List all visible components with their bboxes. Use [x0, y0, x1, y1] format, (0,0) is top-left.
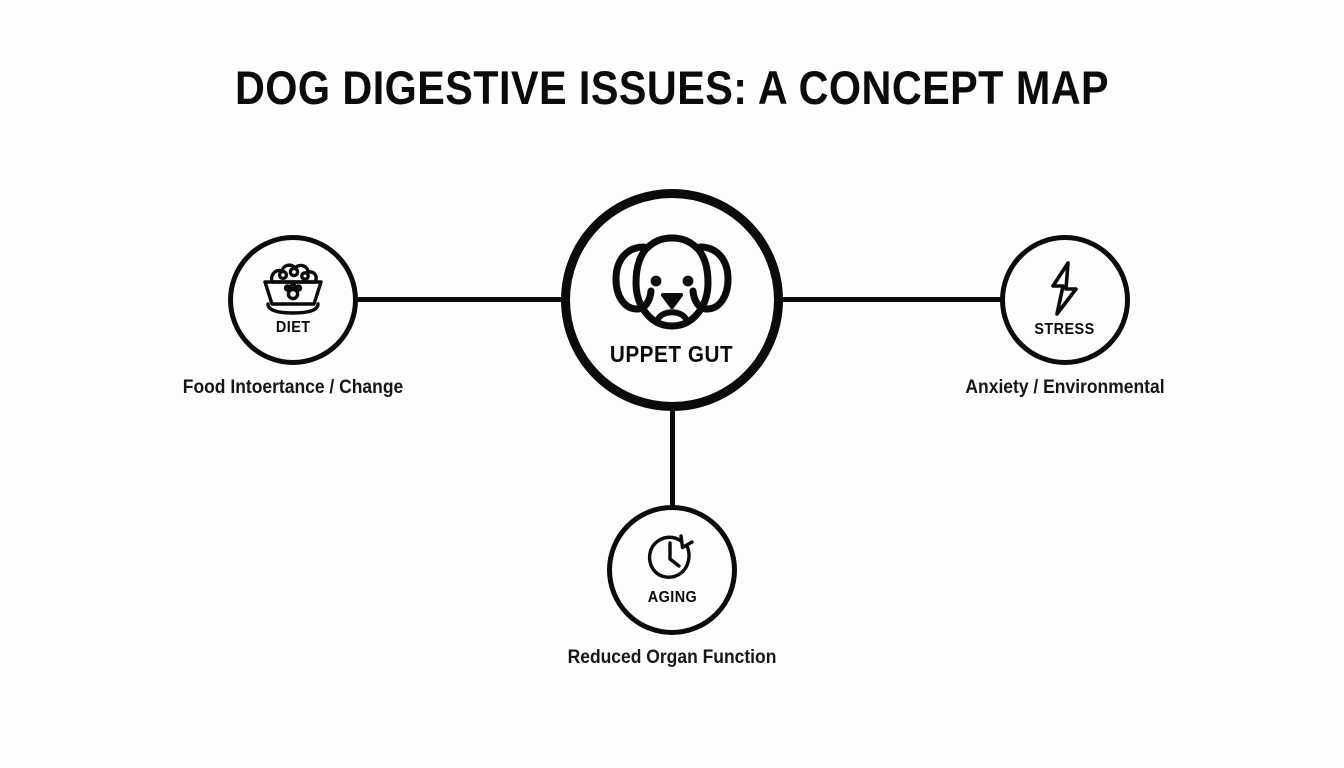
- sad-dog-face-icon: [606, 231, 738, 335]
- node-diet[interactable]: DIET: [228, 235, 358, 365]
- caption-aging: Reduced Organ Function: [525, 647, 819, 669]
- node-label-upset-gut: UPPET GUT: [610, 341, 733, 368]
- lightning-bolt-icon: [1041, 260, 1089, 318]
- edge-gut-to-aging: [670, 408, 675, 509]
- caption-stress: Anxiety / Environmental: [918, 377, 1212, 399]
- caption-diet: Food Intoertance / Change: [146, 377, 440, 399]
- node-label-stress: STRESS: [1035, 321, 1095, 339]
- clock-rotate-icon: [643, 530, 701, 586]
- node-stress[interactable]: STRESS: [1000, 235, 1130, 365]
- page-title: DOG DIGESTIVE ISSUES: A CONCEPT MAP: [81, 60, 1264, 115]
- dog-food-bowl-icon: [255, 260, 331, 316]
- node-aging[interactable]: AGING: [607, 505, 737, 635]
- concept-map-canvas: DOG DIGESTIVE ISSUES: A CONCEPT MAP: [0, 0, 1344, 768]
- node-upset-gut[interactable]: UPPET GUT: [561, 189, 783, 411]
- edge-diet-to-gut: [356, 297, 564, 302]
- node-label-aging: AGING: [647, 589, 696, 607]
- node-label-diet: DIET: [276, 319, 311, 337]
- edge-gut-to-stress: [780, 297, 1002, 302]
